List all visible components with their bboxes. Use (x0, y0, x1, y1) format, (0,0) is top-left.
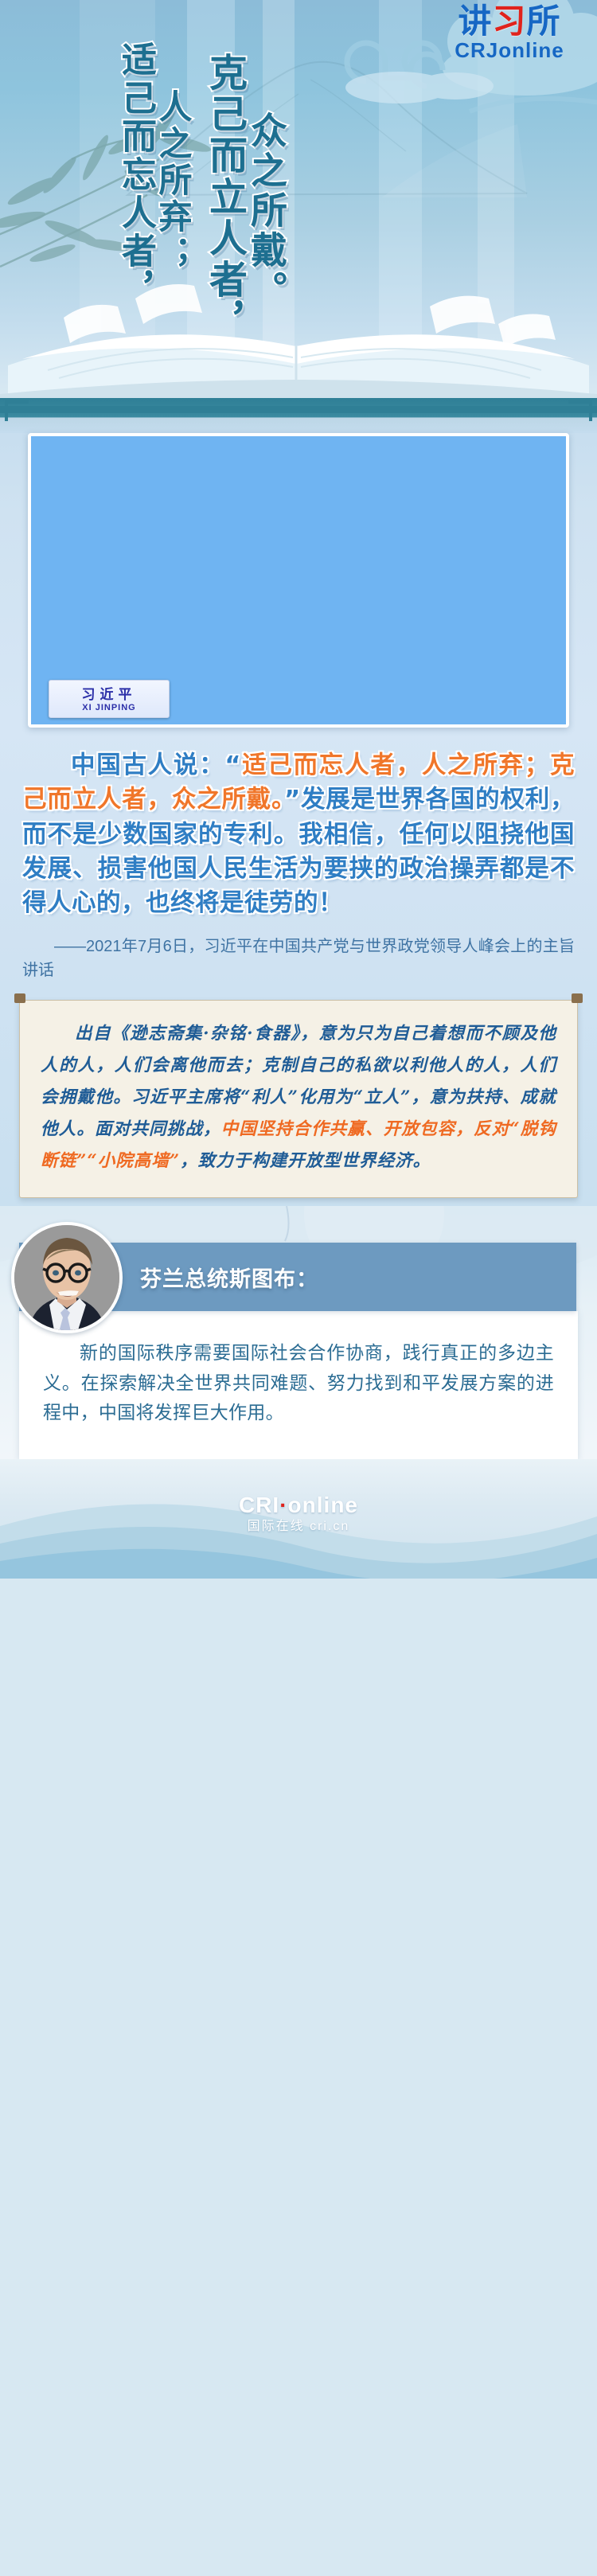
frame-corner-right (568, 400, 592, 421)
footer-logo-en: CRI·online (0, 1491, 597, 1519)
logo-char-jiang: 讲 (458, 2, 492, 40)
footer-logo-zh: 国际在线 cri.cn (0, 1519, 597, 1535)
decorative-frame-top (0, 398, 597, 433)
main-content: 习近平 XI JINPING 中国古人说：“适己而忘人者，人之所弃；克己而立人者… (0, 398, 597, 1206)
avatar-portrait (14, 1225, 119, 1330)
main-quote: 中国古人说：“适己而忘人者，人之所弃；克己而立人者，众之所戴。”发展是世界各国的… (22, 748, 575, 920)
nameplate-name-cn: 习近平 (49, 683, 169, 703)
finland-section: 芬兰总统斯图布： 新的国际秩序需要国际社会合作协商，践行真正的多边主义。在探索解… (0, 1206, 597, 1459)
logo-char-xi: 习 (492, 2, 526, 40)
site-logo[interactable]: 讲习所 CRJonline (433, 5, 586, 60)
hero-banner: 讲习所 CRJonline 适己而忘人者， 人之所弃； 克己而立人者， 众之所戴… (0, 0, 597, 398)
site-logo-en: CRJonline (433, 40, 586, 60)
page-footer: CRI·online 国际在线 cri.cn (0, 1459, 597, 1579)
finland-president-title: 芬兰总统斯图布： (140, 1262, 318, 1293)
explanation-part2: ，致力于构建开放型世界经济。 (180, 1151, 431, 1171)
leader-photo: 习近平 XI JINPING (28, 433, 569, 728)
footer-logo-dot: · (279, 1493, 287, 1517)
frame-corner-left (5, 400, 29, 421)
frame-bar (0, 406, 597, 413)
nameplate: 习近平 XI JINPING (49, 680, 170, 718)
finland-header-bar: 芬兰总统斯图布： (19, 1243, 576, 1311)
open-book-illustration (0, 230, 597, 398)
footer-logo-cri: CRI (239, 1493, 279, 1517)
finland-president-avatar (11, 1222, 123, 1333)
explanation-panel: 出自《逊志斋集·杂铭·食器》，意为只为自己着想而不顾及他人的人，人们会离他而去；… (19, 1000, 578, 1198)
footer-logo[interactable]: CRI·online 国际在线 cri.cn (0, 1491, 597, 1535)
quote-source: ——2021年7月6日，习近平在中国共产党与世界政党领导人峰会上的主旨讲话 (22, 935, 575, 982)
logo-char-suo: 所 (527, 2, 561, 40)
explanation-text: 出自《逊志斋集·杂铭·食器》，意为只为自己着想而不顾及他人的人，人们会离他而去；… (41, 1018, 556, 1177)
footer-logo-online: online (288, 1493, 358, 1517)
nameplate-name-en: XI JINPING (49, 703, 169, 712)
infographic-page: 讲习所 CRJonline 适己而忘人者， 人之所弃； 克己而立人者， 众之所戴… (0, 0, 597, 2576)
site-logo-cn: 讲习所 (433, 5, 586, 38)
quote-lead: 中国古人说：“ (71, 751, 241, 779)
